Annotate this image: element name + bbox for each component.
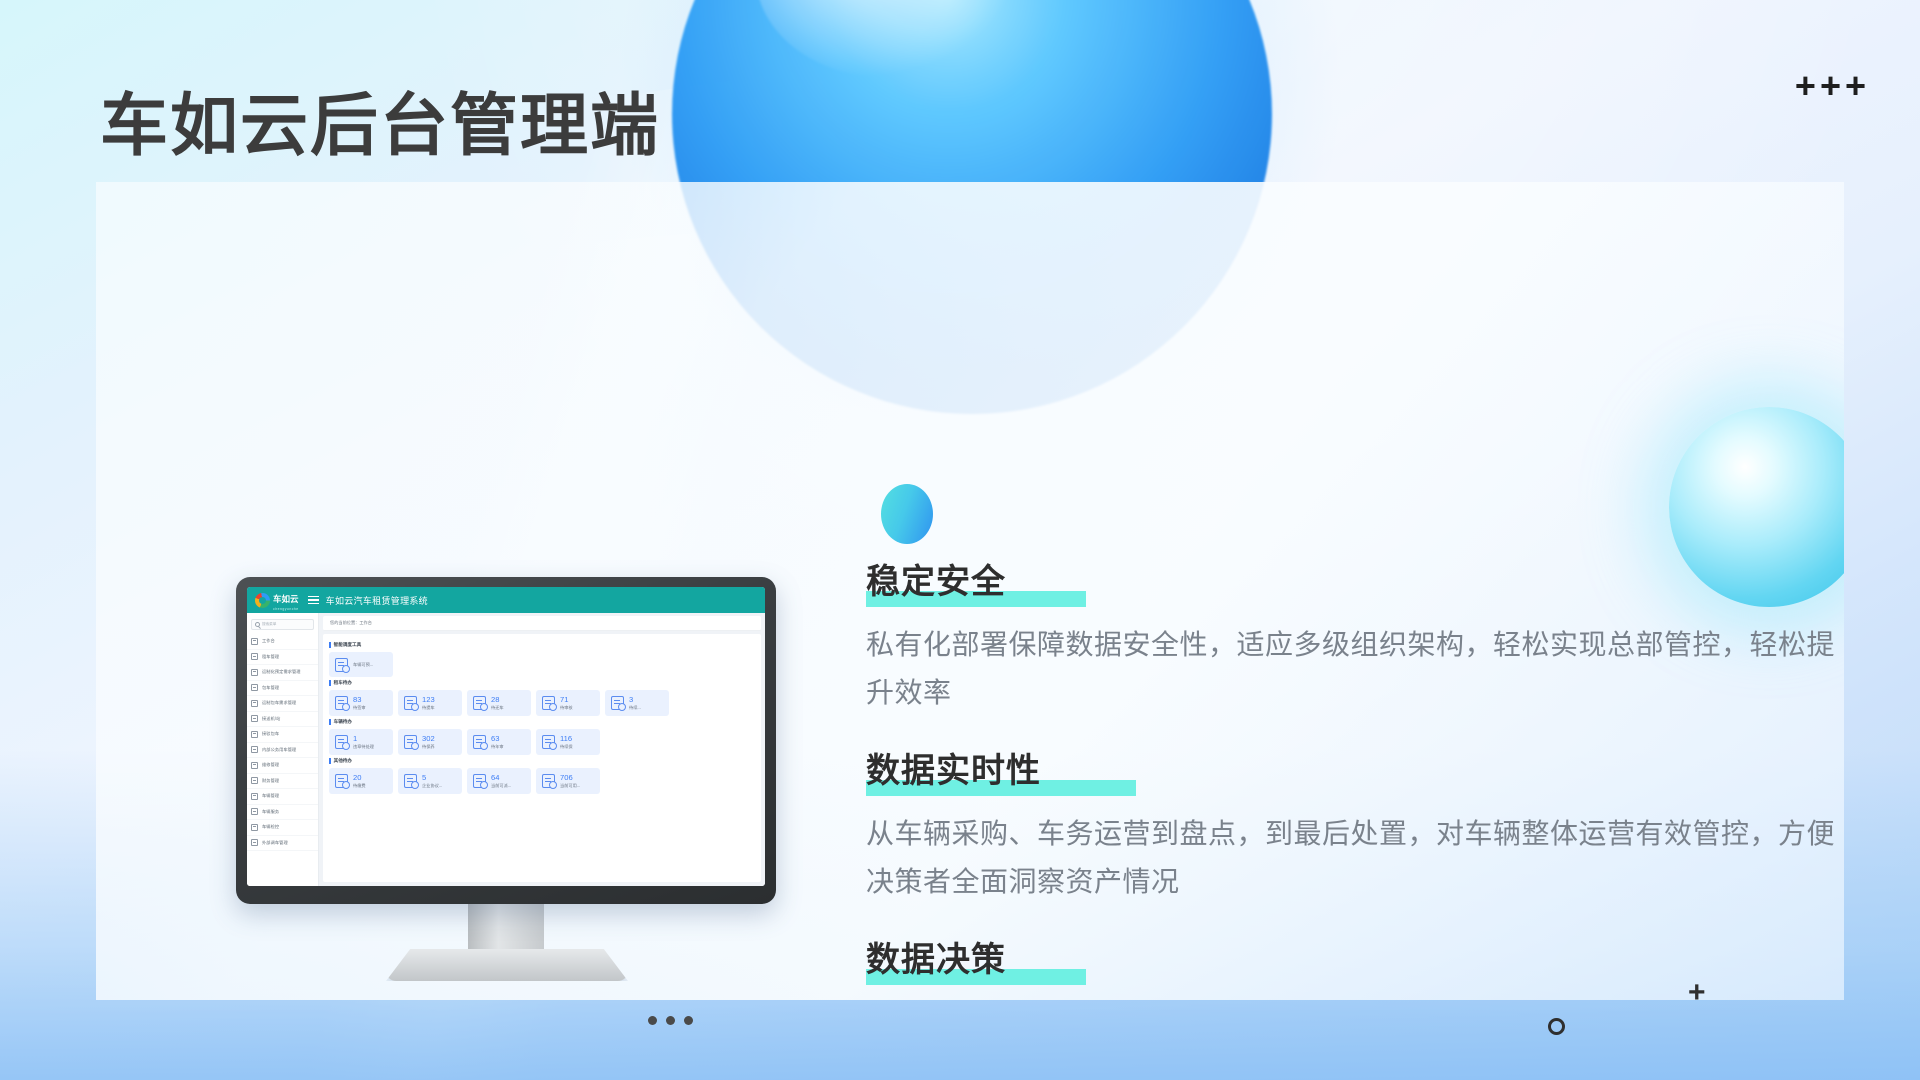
dashboard-section-title: 车辆待办 [329, 719, 755, 725]
stat-card-number: 83 [353, 696, 366, 704]
stat-card-label: 当前可派... [491, 783, 511, 788]
stat-card-number: 123 [422, 696, 435, 704]
dashboard-stat-card[interactable]: 302待保养 [398, 729, 462, 755]
app-logo[interactable]: 车如云 chengyunche [255, 589, 299, 611]
stat-card-label: 待保养 [422, 744, 435, 749]
feature-heading-text: 稳定安全 [866, 563, 1006, 601]
sidebar-item-label: 财务管理 [262, 778, 279, 784]
section-title-text: 车辆待办 [334, 719, 352, 725]
sidebar-item[interactable]: 维修管理 [247, 758, 318, 774]
stat-card-number: 20 [353, 774, 366, 782]
dashboard-stat-card[interactable]: 706当前可用... [536, 768, 600, 794]
sidebar-item-icon [251, 746, 258, 753]
sidebar-item-icon [251, 653, 258, 660]
dashboard-stat-card[interactable]: 116待续保 [536, 729, 600, 755]
sidebar-item-label: 包车管理 [262, 685, 279, 691]
dashboard-stat-card[interactable]: 5企业协议... [398, 768, 462, 794]
sidebar-item-icon [251, 638, 258, 645]
sidebar-item[interactable]: 工作台 [247, 634, 318, 650]
section-title-text: 智能调度工具 [334, 642, 362, 648]
stat-card-label: 当前可用... [560, 783, 580, 788]
stat-card-number: 64 [491, 774, 511, 782]
dashboard-stat-card[interactable]: 28待还车 [467, 690, 531, 716]
search-icon [255, 622, 260, 627]
document-icon [404, 696, 417, 710]
sidebar-item[interactable]: 接送机/站 [247, 712, 318, 728]
feature-body-text: 私有化部署保障数据安全性，适应多级组织架构，轻松实现总部管控，轻松提升效率 [866, 621, 1844, 717]
hamburger-menu-icon[interactable] [308, 596, 319, 605]
sidebar-item-icon [251, 684, 258, 691]
document-icon [542, 735, 555, 749]
document-icon [542, 774, 555, 788]
stat-card-text: 123待提车 [422, 696, 435, 710]
breadcrumb: 您的当前位置：工作台 [323, 616, 761, 631]
sidebar-item-label: 接送机/站 [262, 716, 280, 722]
sidebar-item-icon [251, 762, 258, 769]
sidebar-item[interactable]: 运制化预定需求管理 [247, 665, 318, 681]
sidebar-item-label: 车辆服务 [262, 809, 279, 815]
dashboard-section-title: 智能调度工具 [329, 642, 755, 648]
feature-heading: 数据决策 [866, 932, 1006, 987]
stat-card-number: 71 [560, 696, 573, 704]
cloud-swirl-icon [255, 593, 270, 608]
sidebar-item[interactable]: 外部调车管理 [247, 836, 318, 852]
stat-card-text: 706当前可用... [560, 774, 580, 788]
stat-card-number: 28 [491, 696, 504, 704]
section-title-text: 其他待办 [334, 758, 352, 764]
monitor-bezel: 车如云 chengyunche 车如云汽车租赁管理系统 搜索菜单 [236, 577, 776, 904]
document-icon [404, 774, 417, 788]
plus-icon: + [1845, 72, 1866, 100]
stat-card-text: 车辆可预... [353, 662, 373, 667]
stat-card-text: 71待审核 [560, 696, 573, 710]
stat-card-number: 5 [422, 774, 442, 782]
dashboard-section-title: 租车待办 [329, 680, 755, 686]
stat-card-text: 1违章待处理 [353, 735, 374, 749]
sidebar-item[interactable]: 租车管理 [247, 650, 318, 666]
feature-heading-text: 数据决策 [866, 941, 1006, 979]
dashboard-stat-card[interactable]: 车辆可预... [329, 652, 393, 677]
dashboard-card-row: 20待缴费5企业协议...64当前可派...706当前可用... [329, 768, 755, 794]
document-icon [542, 696, 555, 710]
plus-icon: + [1795, 72, 1816, 100]
section-title-text: 租车待办 [334, 680, 352, 686]
feature-heading-text: 数据实时性 [866, 752, 1041, 790]
logo-text: 车如云 [273, 594, 299, 604]
document-icon [335, 658, 348, 672]
decorative-capsule-bullet [881, 484, 933, 544]
document-icon [473, 696, 486, 710]
dashboard-stat-card[interactable]: 83待签审 [329, 690, 393, 716]
stat-card-number: 3 [629, 696, 641, 704]
section-accent-bar [329, 642, 331, 648]
app-main-area: 您的当前位置：工作台 智能调度工具车辆可预...租车待办83待签审123待提车2… [319, 613, 765, 886]
app-header-title: 车如云汽车租赁管理系统 [326, 594, 428, 607]
sidebar-item[interactable]: 运制包车需求管理 [247, 696, 318, 712]
sidebar-item-label: 维修管理 [262, 762, 279, 768]
sidebar-item[interactable]: 内部公务用车管理 [247, 743, 318, 759]
dashboard-card-row: 83待签审123待提车28待还车71待审核3待续... [329, 690, 755, 716]
dashboard-stat-card[interactable]: 64当前可派... [467, 768, 531, 794]
content-panel: 车如云 chengyunche 车如云汽车租赁管理系统 搜索菜单 [96, 182, 1844, 1000]
feature-heading: 数据实时性 [866, 743, 1041, 798]
stat-card-text: 64当前可派... [491, 774, 511, 788]
stat-card-label: 待年审 [491, 744, 504, 749]
feature-body-text: 从车辆采购、车务运营到盘点，到最后处置，对车辆整体运营有效管控，方便决策者全面洞… [866, 810, 1844, 906]
feature-item: 稳定安全私有化部署保障数据安全性，适应多级组织架构，轻松实现总部管控，轻松提升效… [866, 554, 1844, 717]
stat-card-text: 116待续保 [560, 735, 573, 749]
document-icon [473, 774, 486, 788]
dashboard-card-row: 车辆可预... [329, 652, 755, 677]
sidebar-item-icon [251, 839, 258, 846]
stat-card-number: 1 [353, 735, 374, 743]
sidebar-item[interactable]: 包车管理 [247, 681, 318, 697]
sidebar-item[interactable]: 车辆检控 [247, 820, 318, 836]
dashboard-sections: 智能调度工具车辆可预...租车待办83待签审123待提车28待还车71待审核3待… [329, 642, 755, 794]
stat-card-label: 待签审 [353, 705, 366, 710]
stat-card-number: 63 [491, 735, 504, 743]
sidebar-item[interactable]: 车辆管理 [247, 789, 318, 805]
feature-heading: 稳定安全 [866, 554, 1006, 609]
stat-card-text: 83待签审 [353, 696, 366, 710]
stat-card-label: 待缴费 [353, 783, 366, 788]
monitor-mockup: 车如云 chengyunche 车如云汽车租赁管理系统 搜索菜单 [236, 577, 776, 997]
sidebar-item-label: 运制包车需求管理 [262, 700, 296, 706]
sidebar-item-icon [251, 715, 258, 722]
stat-card-label: 违章待处理 [353, 744, 374, 749]
dashboard-stat-card[interactable]: 1违章待处理 [329, 729, 393, 755]
document-icon [473, 735, 486, 749]
section-accent-bar [329, 719, 331, 725]
sidebar-item-icon [251, 777, 258, 784]
sidebar-item-label: 接驳包车 [262, 731, 279, 737]
stat-card-label: 待审核 [560, 705, 573, 710]
sidebar-item[interactable]: 车辆服务 [247, 805, 318, 821]
sidebar-item-label: 工作台 [262, 638, 275, 644]
section-accent-bar [329, 758, 331, 764]
plus-icon: + [1820, 72, 1841, 100]
sidebar-item-label: 外部调车管理 [262, 840, 288, 846]
dashboard-stat-card[interactable]: 3待续... [605, 690, 669, 716]
dashboard-stat-card[interactable]: 71待审核 [536, 690, 600, 716]
app-body: 搜索菜单 工作台租车管理运制化预定需求管理包车管理运制包车需求管理接送机/站接驳… [247, 613, 765, 886]
stat-card-label: 待还车 [491, 705, 504, 710]
stat-card-label: 待提车 [422, 705, 435, 710]
stat-card-label: 企业协议... [422, 783, 442, 788]
sidebar-item[interactable]: 接驳包车 [247, 727, 318, 743]
document-icon [335, 696, 348, 710]
feature-item: 数据实时性从车辆采购、车务运营到盘点，到最后处置，对车辆整体运营有效管控，方便决… [866, 743, 1844, 906]
stat-card-label: 待续保 [560, 744, 573, 749]
stat-card-text: 20待缴费 [353, 774, 366, 788]
sidebar-menu-list: 工作台租车管理运制化预定需求管理包车管理运制包车需求管理接送机/站接驳包车内部公… [247, 634, 318, 851]
dashboard-stat-card[interactable]: 63待年审 [467, 729, 531, 755]
document-icon [404, 735, 417, 749]
sidebar-search-input[interactable]: 搜索菜单 [251, 619, 314, 630]
sidebar-item-icon [251, 731, 258, 738]
dashboard-section-title: 其他待办 [329, 758, 755, 764]
circle-decoration-icon [1548, 1018, 1565, 1035]
dashboard-stat-card[interactable]: 20待缴费 [329, 768, 393, 794]
logo-subtext: chengyunche [273, 607, 299, 611]
stat-card-text: 302待保养 [422, 735, 435, 749]
document-icon [335, 774, 348, 788]
stat-card-text: 28待还车 [491, 696, 504, 710]
sidebar-item-icon [251, 669, 258, 676]
stat-card-number: 706 [560, 774, 580, 782]
sidebar-item-icon [251, 808, 258, 815]
sidebar-item-label: 车辆检控 [262, 824, 279, 830]
page-title: 车如云后台管理端 [100, 70, 660, 169]
app-sidebar: 搜索菜单 工作台租车管理运制化预定需求管理包车管理运制包车需求管理接送机/站接驳… [247, 613, 319, 886]
dashboard-card-row: 1违章待处理302待保养63待年审116待续保 [329, 729, 755, 755]
app-screen: 车如云 chengyunche 车如云汽车租赁管理系统 搜索菜单 [247, 587, 765, 886]
stat-card-number: 302 [422, 735, 435, 743]
sidebar-item-label: 运制化预定需求管理 [262, 669, 301, 675]
sidebar-search-placeholder: 搜索菜单 [262, 622, 276, 627]
stat-card-text: 3待续... [629, 696, 641, 710]
breadcrumb-text: 您的当前位置：工作台 [330, 620, 372, 626]
feature-list: 稳定安全私有化部署保障数据安全性，适应多级组织架构，轻松实现总部管控，轻松提升效… [866, 554, 1844, 1000]
sidebar-item-label: 租车管理 [262, 654, 279, 660]
document-icon [335, 735, 348, 749]
stat-card-number: 116 [560, 735, 573, 743]
sidebar-item-label: 车辆管理 [262, 793, 279, 799]
sidebar-item-icon [251, 824, 258, 831]
plus-decoration-group: + + + [1795, 72, 1866, 100]
sidebar-item[interactable]: 财务管理 [247, 774, 318, 790]
section-accent-bar [329, 680, 331, 686]
dashboard-stat-card[interactable]: 123待提车 [398, 690, 462, 716]
sidebar-item-icon [251, 700, 258, 707]
stat-card-label: 车辆可预... [353, 662, 373, 667]
sidebar-item-label: 内部公务用车管理 [262, 747, 296, 753]
stat-card-label: 待续... [629, 705, 641, 710]
app-header: 车如云 chengyunche 车如云汽车租赁管理系统 [247, 587, 765, 613]
plus-icon: + [1688, 976, 1706, 1010]
sidebar-item-icon [251, 793, 258, 800]
dashboard-content: 智能调度工具车辆可预...租车待办83待签审123待提车28待还车71待审核3待… [323, 634, 761, 882]
stat-card-text: 5企业协议... [422, 774, 442, 788]
stat-card-text: 63待年审 [491, 735, 504, 749]
dots-decoration-icon [648, 1016, 693, 1025]
document-icon [611, 696, 624, 710]
monitor-stand-base [386, 949, 628, 981]
